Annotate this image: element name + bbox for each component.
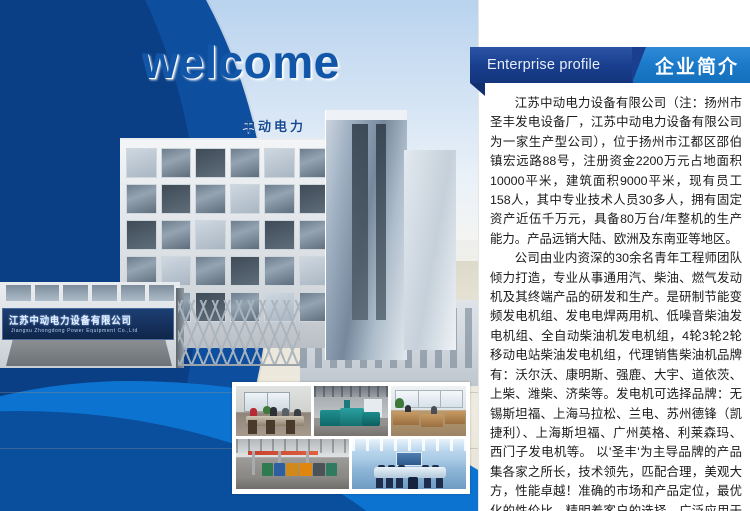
entrance-facade: 江苏中动电力设备有限公司 Jiangsu Zhongdong Power Equ… (0, 282, 180, 368)
company-name-board: 江苏中动电力设备有限公司 Jiangsu Zhongdong Power Equ… (2, 308, 174, 340)
name-board-stand (6, 340, 172, 366)
entrance-windows (6, 285, 174, 301)
profile-paragraph-2: 公司由业内资深的30余名青年工程师团队倾力打造，专业从事通用汽、柴油、燃气发动机… (490, 249, 742, 511)
section-tab[interactable]: Enterprise profile 企业简介 (470, 47, 750, 83)
tower-glass-strip (352, 124, 368, 320)
left-visual-panel: 中动电力 江苏中动电力设备有限公司 Jiangsu Zhongdong Powe… (0, 0, 478, 511)
photo-factory-floor (236, 439, 349, 489)
tower-glass-strip (376, 124, 386, 320)
photo-conference-room (352, 439, 466, 489)
company-name-en: Jiangsu Zhongdong Power Equipment Co.,Lt… (11, 328, 169, 334)
retractable-gate (178, 300, 300, 366)
window-row (126, 220, 329, 250)
banner-root: 中动电力 江苏中动电力设备有限公司 Jiangsu Zhongdong Powe… (0, 0, 750, 511)
photo-generator-workshop (314, 386, 389, 436)
building-roof-sign: 中动电力 (242, 116, 306, 135)
company-name-cn: 江苏中动电力设备有限公司 (9, 312, 158, 327)
tab-label-chinese[interactable]: 企业简介 (633, 47, 750, 83)
tab-pointer (470, 83, 485, 96)
page-title: welcome (142, 35, 340, 89)
window-row (126, 184, 329, 214)
photo-row-top (236, 386, 466, 436)
tower-cap (326, 110, 407, 120)
profile-body: 江苏中动电力设备有限公司（注：扬州市圣丰发电设备厂，江苏中动电力设备有限公司为一… (490, 94, 742, 511)
photo-row-bottom (236, 439, 466, 489)
glass-tower (325, 110, 407, 360)
tab-label-english[interactable]: Enterprise profile (470, 47, 633, 83)
tower-side-wing (404, 150, 456, 350)
entrance-block: 江苏中动电力设备有限公司 Jiangsu Zhongdong Power Equ… (0, 282, 300, 382)
profile-paragraph-1: 江苏中动电力设备有限公司（注：扬州市圣丰发电设备厂，江苏中动电力设备有限公司为一… (490, 94, 742, 249)
profile-panel: Enterprise profile 企业简介 江苏中动电力设备有限公司（注：扬… (478, 0, 750, 511)
photo-grid (232, 382, 470, 494)
window-row (126, 148, 329, 178)
photo-open-office (391, 386, 466, 436)
photo-office-meeting (236, 386, 311, 436)
